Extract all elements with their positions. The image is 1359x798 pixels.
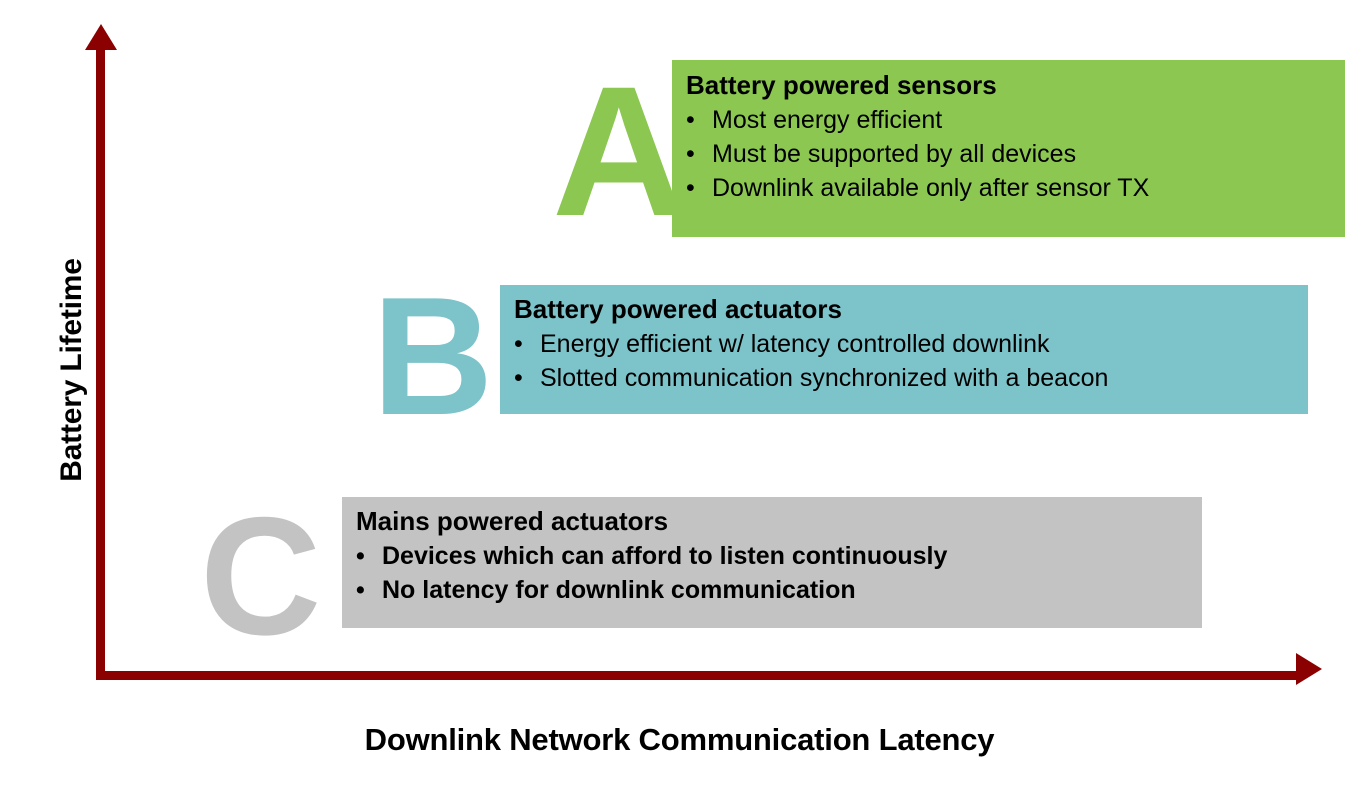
list-item: • Downlink available only after sensor T…	[686, 171, 1345, 205]
x-axis-line	[96, 671, 1304, 680]
tier-a-heading: Battery powered sensors	[686, 70, 1345, 101]
bullet-text: Energy efficient w/ latency controlled d…	[540, 327, 1050, 361]
arrow-right-icon	[1296, 653, 1322, 685]
bullet-icon: •	[514, 361, 540, 395]
list-item: • Devices which can afford to listen con…	[356, 539, 1202, 573]
bullet-text: Must be supported by all devices	[712, 137, 1076, 171]
list-item: • Most energy efficient	[686, 103, 1345, 137]
tier-letter-c: C	[200, 492, 321, 660]
tier-c-heading: Mains powered actuators	[356, 506, 1202, 537]
tier-box-b[interactable]: Battery powered actuators • Energy effic…	[500, 285, 1308, 414]
tier-b-heading: Battery powered actuators	[514, 294, 1308, 325]
tier-letter-b: B	[372, 272, 493, 440]
list-item: • Must be supported by all devices	[686, 137, 1345, 171]
bullet-icon: •	[514, 327, 540, 361]
tier-c-bullet-list: • Devices which can afford to listen con…	[356, 539, 1202, 607]
bullet-text: Downlink available only after sensor TX	[712, 171, 1149, 205]
x-axis-label: Downlink Network Communication Latency	[0, 722, 1359, 758]
bullet-text: Slotted communication synchronized with …	[540, 361, 1108, 395]
tier-letter-a: A	[552, 60, 686, 245]
list-item: • Slotted communication synchronized wit…	[514, 361, 1308, 395]
bullet-icon: •	[686, 171, 712, 205]
bullet-text: Devices which can afford to listen conti…	[382, 539, 947, 573]
tier-box-a[interactable]: Battery powered sensors • Most energy ef…	[672, 60, 1345, 237]
tier-a-bullet-list: • Most energy efficient • Must be suppor…	[686, 103, 1345, 205]
bullet-icon: •	[686, 103, 712, 137]
bullet-text: Most energy efficient	[712, 103, 942, 137]
arrow-up-icon	[85, 24, 117, 50]
y-axis-label: Battery Lifetime	[55, 210, 89, 530]
list-item: • No latency for downlink communication	[356, 573, 1202, 607]
list-item: • Energy efficient w/ latency controlled…	[514, 327, 1308, 361]
bullet-icon: •	[356, 539, 382, 573]
tier-box-c[interactable]: Mains powered actuators • Devices which …	[342, 497, 1202, 628]
bullet-text: No latency for downlink communication	[382, 573, 856, 607]
bullet-icon: •	[686, 137, 712, 171]
diagram-canvas: Battery Lifetime Downlink Network Commun…	[0, 0, 1359, 798]
bullet-icon: •	[356, 573, 382, 607]
tier-b-bullet-list: • Energy efficient w/ latency controlled…	[514, 327, 1308, 395]
y-axis-line	[96, 46, 105, 680]
